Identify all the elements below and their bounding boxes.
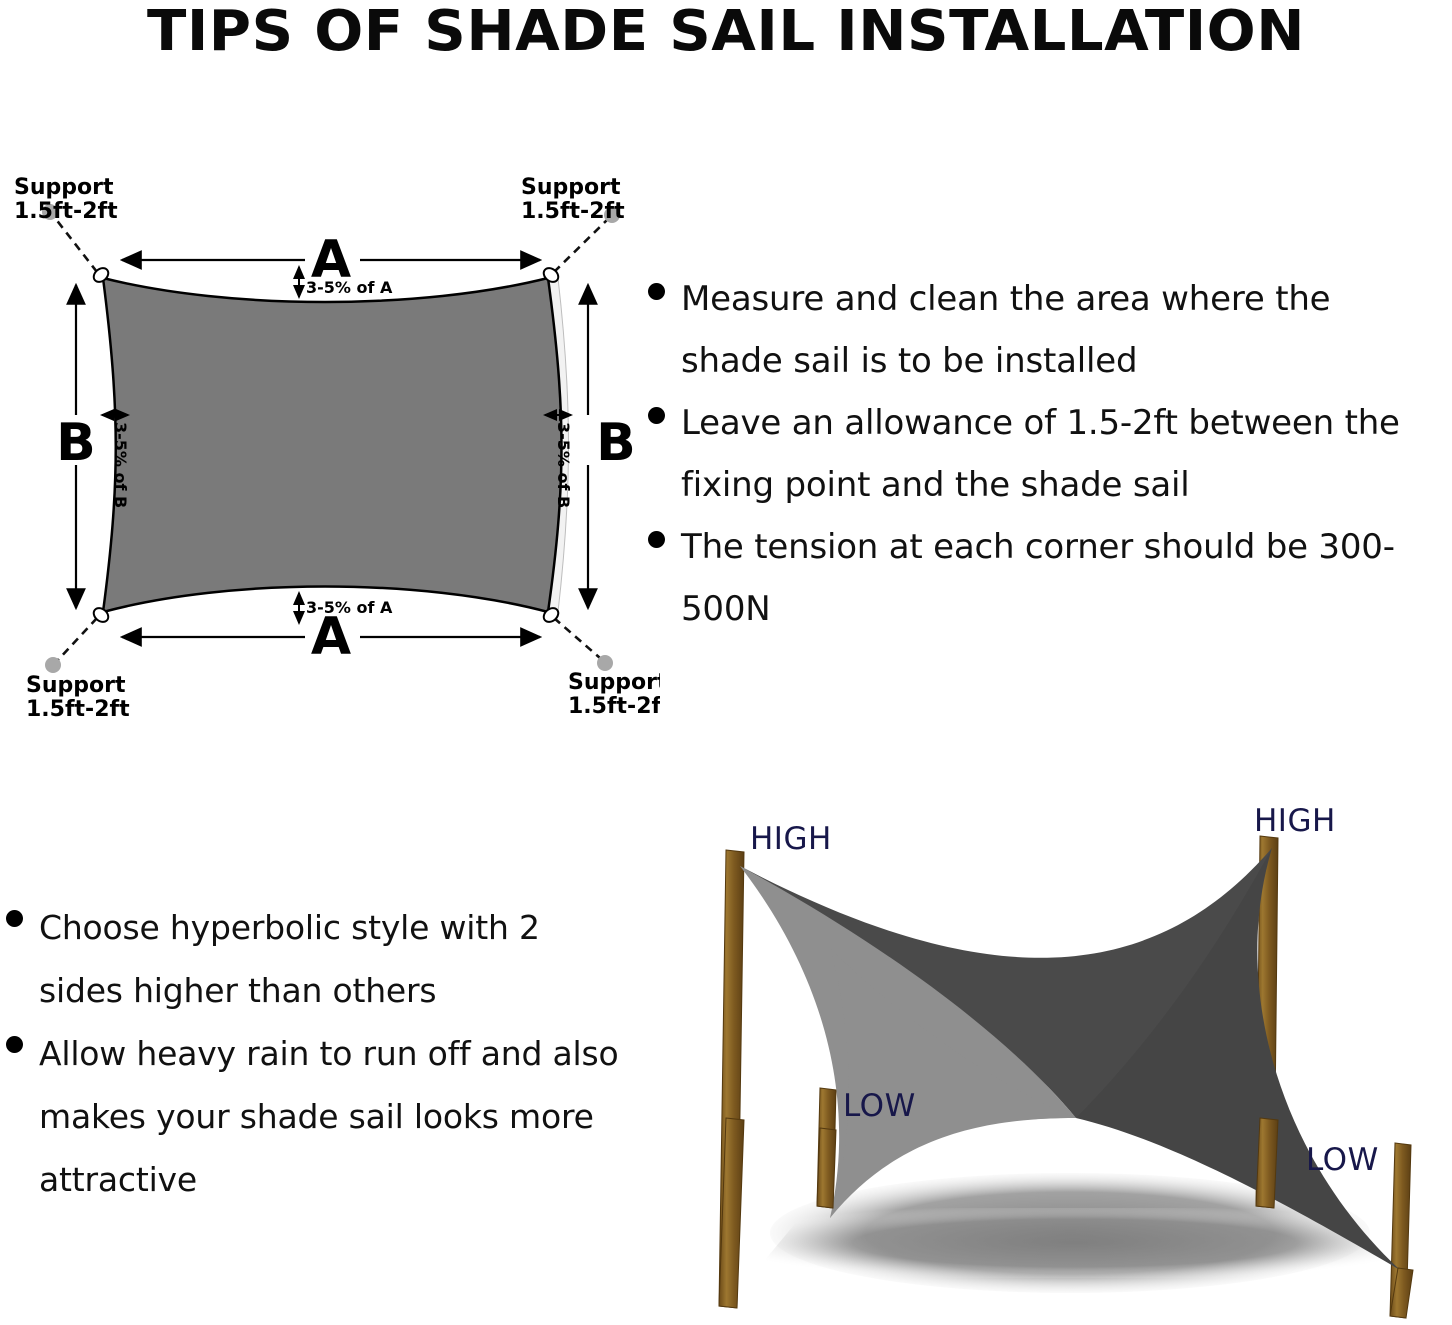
list-item-text: The tension at each corner should be 300… (681, 516, 1441, 640)
list-item-text: Measure and clean the area where the sha… (681, 268, 1441, 392)
support-line-bottom-left (58, 618, 97, 660)
support-label-top-left-line1: Support (14, 175, 114, 200)
curve-depth-label-bottom: 3-5% of A (306, 598, 393, 617)
page-title: TIPS OF SHADE SAIL INSTALLATION (0, 0, 1452, 62)
list-item-text: Allow heavy rain to run off and also mak… (39, 1022, 619, 1211)
installation-tips-bottom-list: Choose hyperbolic style with 2 sides hig… (6, 896, 626, 1211)
bullet-dot-icon (648, 407, 665, 424)
bullet-dot-icon (648, 531, 665, 548)
dimension-label-b-left: B (56, 413, 96, 473)
curve-depth-label-top: 3-5% of A (306, 278, 393, 297)
support-label-top-right-line1: Support (521, 175, 621, 200)
post-high-right-front (1256, 1118, 1278, 1208)
bullet-dot-icon (6, 1036, 23, 1053)
support-label-top-right-line2: 1.5ft-2ft (521, 199, 625, 224)
ground-shadow-quad (750, 1208, 1400, 1278)
support-line-bottom-right (554, 618, 600, 658)
support-label-bottom-right-line2: 1.5ft-2ft (568, 694, 660, 719)
curve-depth-label-left: 3-5% of B (111, 422, 130, 508)
list-item: The tension at each corner should be 300… (648, 516, 1452, 640)
support-point-bottom-right (597, 655, 613, 671)
support-point-bottom-left (45, 657, 61, 673)
bullet-dot-icon (6, 910, 23, 927)
support-label-bottom-right-line1: Support (568, 670, 660, 695)
curve-depth-label-right: 3-5% of B (554, 422, 573, 508)
list-item: Choose hyperbolic style with 2 sides hig… (6, 896, 626, 1022)
support-line-top-right (554, 220, 607, 272)
list-item: Allow heavy rain to run off and also mak… (6, 1022, 626, 1211)
list-item-text: Choose hyperbolic style with 2 sides hig… (39, 896, 619, 1022)
bullet-dot-icon (648, 283, 665, 300)
shade-sail-shape (103, 278, 562, 612)
label-high-right: HIGH (1254, 803, 1336, 839)
label-low-right: LOW (1306, 1142, 1379, 1178)
installation-tips-top-list: Measure and clean the area where the sha… (648, 268, 1452, 640)
support-label-bottom-left-line1: Support (26, 673, 126, 698)
list-item: Measure and clean the area where the sha… (648, 268, 1452, 392)
list-item: Leave an allowance of 1.5-2ft between th… (648, 392, 1452, 516)
rectangular-sail-diagram: A 3-5% of A A 3-5% of A B 3-5% of B B 3-… (0, 160, 660, 740)
label-low-left: LOW (843, 1088, 916, 1124)
support-label-top-left-line2: 1.5ft-2ft (14, 199, 118, 224)
post-low-left-front (817, 1128, 836, 1208)
support-line-top-left (55, 218, 97, 272)
label-high-left: HIGH (750, 821, 832, 857)
hyperbolic-sail-illustration (640, 788, 1452, 1325)
list-item-text: Leave an allowance of 1.5-2ft between th… (681, 392, 1441, 516)
dimension-label-b-right: B (596, 413, 636, 473)
support-label-bottom-left-line2: 1.5ft-2ft (26, 697, 130, 722)
